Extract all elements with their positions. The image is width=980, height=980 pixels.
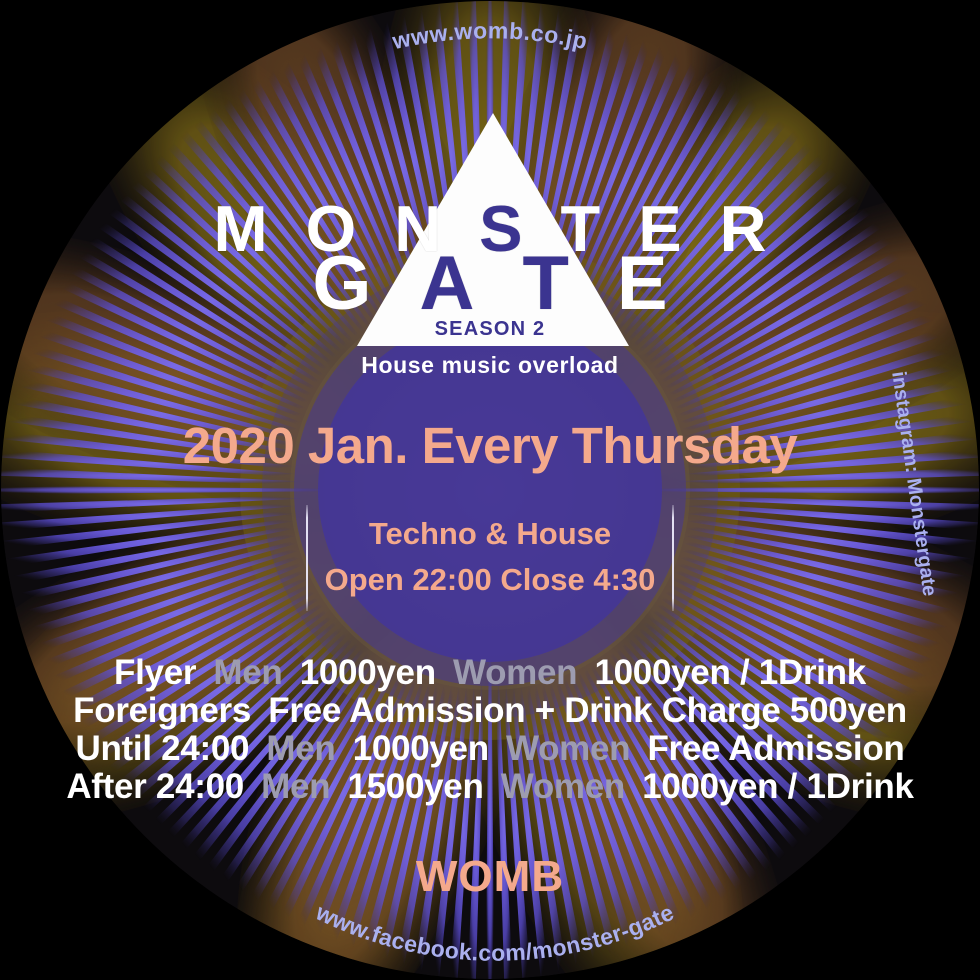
title-char: A [420,246,475,322]
title-char: T [522,246,568,322]
price-text: 1000yen / 1Drink [642,767,913,806]
event-date: 2020 Jan. Every Thursday [0,416,980,475]
price-audience-label: Men [266,729,335,768]
price-row: Flyer Men 1000yen Women 1000yen / 1Drink [0,653,980,693]
price-text: Free Admission [647,729,904,768]
title-char: G [312,246,371,322]
price-row: Until 24:00 Men 1000yen Women Free Admis… [0,729,980,769]
price-audience-label: Women [453,653,577,692]
title-gate: GATE [0,246,980,322]
price-text: 1500yen [347,767,483,806]
genre-label: Techno & House [0,516,980,552]
price-row: Foreigners Free Admission + Drink Charge… [0,691,980,731]
svg-text:www.womb.co.jp: www.womb.co.jp [389,17,590,54]
price-text: Until 24:00 [75,729,249,768]
price-text: 1000yen / 1Drink [594,653,865,692]
title-char: E [617,246,668,322]
price-audience-label: Men [261,767,330,806]
price-text: Foreigners [73,691,251,730]
facebook-url: www.facebook.com/monster-gate [311,898,678,965]
price-text: After 24:00 [66,767,244,806]
price-audience-label: Women [506,729,630,768]
price-text: Free Admission + Drink Charge 500yen [268,691,907,730]
price-row: After 24:00 Men 1500yen Women 1000yen / … [0,767,980,807]
svg-text:www.facebook.com/monster-gate: www.facebook.com/monster-gate [311,898,678,965]
top-link-arc: www.womb.co.jp [0,0,980,120]
bottom-link-arc: www.facebook.com/monster-gate [0,880,980,980]
price-audience-label: Men [213,653,282,692]
season-label: SEASON 2 [0,318,980,341]
price-text: 1000yen [300,653,436,692]
tagline: House music overload [0,352,980,379]
womb-url: www.womb.co.jp [389,17,590,54]
flyer-poster: www.womb.co.jp instagram: Monstergate MO… [0,0,980,980]
price-text: 1000yen [353,729,489,768]
price-audience-label: Women [501,767,625,806]
hours-label: Open 22:00 Close 4:30 [0,562,980,598]
price-text: Flyer [114,653,196,692]
